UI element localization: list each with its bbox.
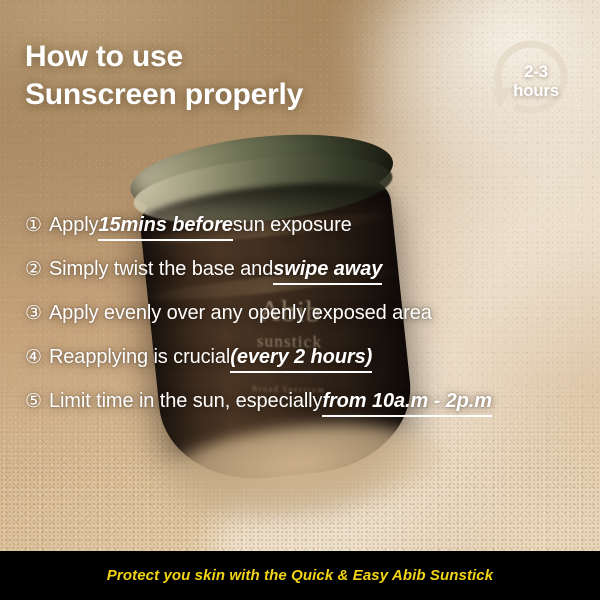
step-text-before: Apply evenly over any openly exposed are… xyxy=(49,302,432,325)
instruction-step: ⑤ Limit time in the sun, especially from… xyxy=(25,390,580,434)
instruction-step: ① Apply 15mins before sun exposure xyxy=(25,214,580,258)
instruction-step-list: ① Apply 15mins before sun exposure ② Sim… xyxy=(25,214,580,434)
step-text-after: sun exposure xyxy=(233,214,352,237)
step-text-before: Apply xyxy=(49,214,99,237)
badge-line-1: 2-3 xyxy=(524,62,548,81)
step-text-emphasis: from 10a.m - 2p.m xyxy=(322,390,491,417)
step-marker: ③ xyxy=(25,304,42,323)
step-text-before: Limit time in the sun, especially xyxy=(49,390,323,413)
badge-label: 2-3 hours xyxy=(488,36,578,126)
instruction-step: ② Simply twist the base and swipe away xyxy=(25,258,580,302)
instruction-step: ③ Apply evenly over any openly exposed a… xyxy=(25,302,580,346)
footer-bar: Protect you skin with the Quick & Easy A… xyxy=(0,551,600,600)
footer-tagline: Protect you skin with the Quick & Easy A… xyxy=(107,567,493,584)
title-line-1: How to use xyxy=(25,38,303,76)
step-text-emphasis: (every 2 hours) xyxy=(230,346,372,373)
step-marker: ① xyxy=(25,216,42,235)
instruction-step: ④ Reapplying is crucial (every 2 hours) xyxy=(25,346,580,390)
step-marker: ② xyxy=(25,260,42,279)
step-marker: ⑤ xyxy=(25,392,42,411)
page-title: How to use Sunscreen properly xyxy=(25,38,303,115)
step-text-before: Reapplying is crucial xyxy=(49,346,230,369)
reapply-interval-badge: 2-3 hours xyxy=(488,36,578,126)
badge-line-2: hours xyxy=(513,81,559,100)
step-text-emphasis: 15mins before xyxy=(98,214,232,241)
sunscreen-instruction-poster: Abib sunstick Broad Spectrum How to use … xyxy=(0,0,600,600)
title-line-2: Sunscreen properly xyxy=(25,76,303,114)
step-text-before: Simply twist the base and xyxy=(49,258,273,281)
step-marker: ④ xyxy=(25,348,42,367)
step-text-emphasis: swipe away xyxy=(273,258,382,285)
